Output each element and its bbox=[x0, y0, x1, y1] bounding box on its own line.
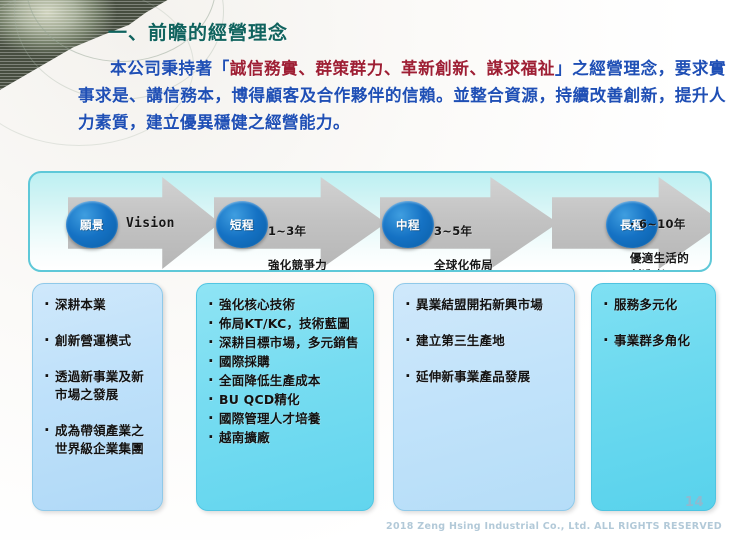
page-number: 14 bbox=[685, 495, 704, 510]
strategy-list-2: 強化核心技術佈局KT/KC，技術藍圖深耕目標市場，多元銷售國際採購全面降低生產成… bbox=[207, 296, 365, 447]
stage-detail-short-term: 1~3年 強化競爭力 bbox=[268, 206, 327, 272]
paragraph-quote: 誠信務實、群策群力、革新創新、謀求福祉 bbox=[230, 59, 555, 78]
strategy-list-4: 服務多元化事業群多角化 bbox=[602, 296, 707, 350]
list-item: 成為帶領產業之世界級企業集團 bbox=[43, 422, 154, 458]
list-item: 越南擴廠 bbox=[207, 429, 365, 447]
strategy-box-3: 異業結盟開拓新興市場建立第三生產地延伸新事業產品發展 bbox=[393, 283, 575, 511]
list-item: 國際管理人才培養 bbox=[207, 410, 365, 428]
paragraph-lead: 本公司秉持著「 bbox=[110, 59, 230, 78]
list-item: 佈局KT/KC，技術藍圖 bbox=[207, 315, 365, 333]
strategy-boxes: 深耕本業創新營運模式透過新事業及新市場之發展成為帶領產業之世界級企業集團 強化核… bbox=[0, 283, 740, 518]
strategy-box-2: 強化核心技術佈局KT/KC，技術藍圖深耕目標市場，多元銷售國際採購全面降低生產成… bbox=[196, 283, 374, 511]
stage-goal-mid-term: 全球化佈局 bbox=[434, 257, 493, 272]
list-item: 建立第三生產地 bbox=[404, 332, 566, 350]
list-item: 創新營運模式 bbox=[43, 332, 154, 350]
strategy-list-3: 異業結盟開拓新興市場建立第三生產地延伸新事業產品發展 bbox=[404, 296, 566, 386]
strategy-list-1: 深耕本業創新營運模式透過新事業及新市場之發展成為帶領產業之世界級企業集團 bbox=[43, 296, 154, 458]
body-paragraph: 本公司秉持著「誠信務實、群策群力、革新創新、謀求福祉」之經營理念，要求實事求是、… bbox=[0, 55, 740, 136]
stage-node-mid-term: 中程 bbox=[382, 201, 434, 248]
list-item: 國際採購 bbox=[207, 353, 365, 371]
list-item: 強化核心技術 bbox=[207, 296, 365, 314]
list-item: 事業群多角化 bbox=[602, 332, 707, 350]
strategy-box-1: 深耕本業創新營運模式透過新事業及新市場之發展成為帶領產業之世界級企業集團 bbox=[32, 283, 163, 511]
stage-goal-short-term: 強化競爭力 bbox=[268, 257, 327, 272]
list-item: 透過新事業及新市場之發展 bbox=[43, 368, 154, 404]
slide-canvas: 一、前瞻的經營理念 本公司秉持著「誠信務實、群策群力、革新創新、謀求福祉」之經營… bbox=[0, 0, 740, 540]
stage-detail-vision: Vision bbox=[126, 215, 175, 232]
roadmap-panel: 願景 短程 中程 長程 Vision 1~3年 強化競爭力 3~5年 全球化佈局… bbox=[28, 171, 712, 272]
list-item: 深耕目標市場，多元銷售 bbox=[207, 334, 365, 352]
list-item: BU QCD精化 bbox=[207, 391, 365, 409]
list-item: 服務多元化 bbox=[602, 296, 707, 314]
stage-period-long-term: · 6~10年 bbox=[630, 216, 689, 233]
list-item: 深耕本業 bbox=[43, 296, 154, 314]
stage-detail-mid-term: 3~5年 全球化佈局 bbox=[434, 206, 493, 272]
footer-copyright: 2018 Zeng Hsing Industrial Co., Ltd. ALL… bbox=[0, 521, 740, 532]
stage-period-short-term: 1~3年 bbox=[268, 223, 327, 240]
strategy-box-4: 服務多元化事業群多角化 bbox=[591, 283, 716, 511]
stage-node-short-term: 短程 bbox=[216, 201, 268, 248]
stage-period-mid-term: 3~5年 bbox=[434, 223, 493, 240]
stage-detail-long-term: · 6~10年 優適生活的 創造者 bbox=[630, 199, 689, 272]
list-item: 全面降低生產成本 bbox=[207, 372, 365, 390]
slide-title: 一、前瞻的經營理念 bbox=[108, 22, 740, 46]
list-item: 異業結盟開拓新興市場 bbox=[404, 296, 566, 314]
list-item: 延伸新事業產品發展 bbox=[404, 368, 566, 386]
stage-node-vision: 願景 bbox=[66, 201, 118, 248]
heading-block: 一、前瞻的經營理念 本公司秉持著「誠信務實、群策群力、革新創新、謀求福祉」之經營… bbox=[0, 22, 740, 136]
stage-goal-long-term: 優適生活的 創造者 bbox=[630, 250, 689, 272]
